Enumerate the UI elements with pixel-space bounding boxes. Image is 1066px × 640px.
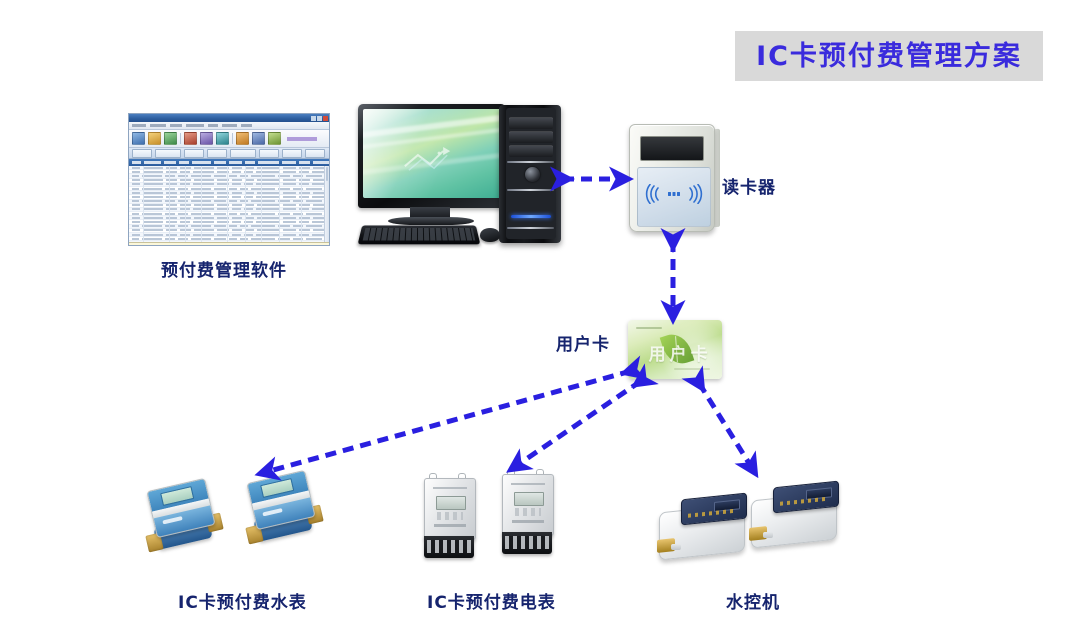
table-cell — [232, 234, 241, 236]
table-cell — [143, 229, 163, 231]
software-button — [259, 149, 279, 158]
table-cell — [256, 196, 280, 198]
table-cell — [214, 238, 226, 240]
connector-card-to-water-controller — [699, 383, 752, 468]
table-cell — [232, 192, 241, 194]
table-cell — [251, 200, 275, 202]
table-cell — [166, 192, 177, 194]
controller-indicator-row — [780, 497, 826, 506]
table-cell — [256, 234, 280, 236]
software-table-header — [129, 159, 329, 166]
table-cell — [214, 200, 226, 202]
table-cell — [178, 188, 188, 190]
table-cell — [283, 217, 296, 219]
table-cell — [143, 192, 163, 194]
table-cell — [193, 171, 213, 173]
table-cell — [132, 171, 140, 173]
table-cell — [166, 204, 177, 206]
table-cell — [142, 225, 162, 227]
table-cell — [251, 238, 275, 240]
table-cell — [132, 213, 139, 215]
table-cell — [214, 225, 226, 227]
table-cell — [229, 225, 237, 227]
table-cell — [306, 175, 322, 177]
table-cell — [165, 200, 175, 202]
table-cell — [256, 221, 280, 223]
table-cell — [132, 221, 140, 223]
table-cell — [165, 238, 175, 240]
software-data-grid — [129, 166, 329, 242]
table-cell — [214, 188, 226, 190]
rfid-wave-icon — [644, 184, 704, 204]
table-cell — [178, 238, 188, 240]
window-controls — [311, 116, 328, 121]
table-cell — [251, 225, 275, 227]
table-cell — [306, 213, 322, 215]
table-cell — [283, 221, 296, 223]
table-cell — [142, 175, 162, 177]
table-cell — [306, 238, 322, 240]
table-cell — [229, 188, 237, 190]
table-cell — [132, 204, 140, 206]
diagram-canvas: IC卡预付费管理方案 — [0, 0, 1066, 640]
table-cell — [166, 183, 177, 185]
table-cell — [229, 238, 237, 240]
table-cell — [132, 238, 139, 240]
wallpaper-arrow-graphic — [388, 143, 468, 173]
table-cell — [229, 213, 237, 215]
table-cell — [178, 175, 188, 177]
toolbar-caption — [287, 137, 317, 141]
table-cell — [306, 225, 322, 227]
table-cell — [194, 167, 214, 169]
software-button — [282, 149, 302, 158]
table-cell — [143, 221, 163, 223]
toolbar-icon — [216, 132, 229, 145]
tower-led-strip — [511, 215, 551, 218]
table-cell — [132, 192, 140, 194]
table-cell — [132, 234, 140, 236]
table-cell — [251, 213, 275, 215]
label-prepaid-electric-meter: IC卡预付费电表 — [427, 588, 556, 613]
info-panel-button[interactable] — [317, 245, 327, 246]
table-cell — [240, 200, 248, 202]
ic-user-card: 用户卡 — [628, 320, 722, 379]
table-cell — [232, 171, 241, 173]
prepaid-water-meter — [145, 478, 231, 564]
software-info-panel — [129, 242, 329, 246]
table-cell — [283, 179, 296, 181]
table-cell — [143, 183, 163, 185]
table-cell — [256, 171, 280, 173]
water-controller — [747, 480, 843, 554]
prepaid-electric-meter — [420, 476, 482, 564]
prepaid-electric-meter-group — [420, 472, 580, 572]
table-cell — [232, 196, 241, 198]
electric-meter-lcd — [514, 492, 544, 506]
toolbar-icon — [164, 132, 177, 145]
table-cell — [194, 217, 214, 219]
table-cell — [251, 188, 275, 190]
table-cell — [132, 196, 140, 198]
monitor-stand-base — [388, 217, 474, 225]
toolbar-icon — [184, 132, 197, 145]
table-cell — [283, 208, 296, 210]
table-cell — [132, 225, 139, 227]
table-cell — [193, 196, 213, 198]
table-cell — [166, 208, 177, 210]
table-cell — [143, 217, 163, 219]
software-button — [207, 149, 227, 158]
table-cell — [283, 183, 296, 185]
software-button — [155, 149, 181, 158]
table-cell — [143, 171, 163, 173]
label-water-controller: 水控机 — [726, 588, 780, 613]
controller-indicator-row — [688, 509, 734, 518]
table-cell — [214, 175, 226, 177]
table-cell — [132, 229, 140, 231]
table-cell — [132, 188, 139, 190]
table-cell — [142, 213, 162, 215]
table-cell — [166, 217, 177, 219]
toolbar-icon — [200, 132, 213, 145]
table-cell — [240, 188, 248, 190]
prepaid-water-meter-group — [145, 470, 345, 580]
table-cell — [232, 204, 241, 206]
table-cell — [132, 208, 140, 210]
reader-card-pad[interactable] — [637, 167, 711, 227]
table-cell — [240, 213, 248, 215]
table-cell — [229, 175, 237, 177]
table-cell — [143, 234, 163, 236]
table-cell — [232, 179, 241, 181]
table-cell — [232, 217, 241, 219]
software-button — [184, 149, 204, 158]
software-button — [230, 149, 256, 158]
computer-tower — [499, 105, 561, 243]
page-title: IC卡预付费管理方案 — [756, 43, 1022, 70]
table-cell — [143, 167, 163, 169]
mouse[interactable] — [480, 228, 500, 242]
table-cell — [194, 179, 214, 181]
electric-meter-buttons[interactable] — [437, 512, 463, 520]
software-menu-bar — [129, 122, 329, 130]
table-cell — [194, 204, 214, 206]
table-cell — [232, 221, 241, 223]
table-cell — [178, 225, 188, 227]
monitor-screen — [363, 109, 501, 198]
table-cell — [283, 204, 296, 206]
water-controller — [655, 492, 751, 566]
keyboard[interactable] — [358, 225, 481, 244]
table-cell — [232, 183, 241, 185]
table-cell — [132, 167, 140, 169]
table-cell — [283, 192, 296, 194]
table-cell — [283, 171, 296, 173]
table-cell — [193, 208, 213, 210]
terminal-block — [424, 536, 474, 558]
table-cell — [143, 204, 163, 206]
table-cell — [142, 188, 162, 190]
prepaid-management-software-screenshot — [128, 113, 330, 246]
table-cell — [283, 234, 296, 236]
table-cell — [283, 229, 296, 231]
desktop-computer — [358, 104, 573, 249]
table-cell — [194, 229, 214, 231]
power-button[interactable] — [525, 167, 540, 182]
water-controller-group — [655, 480, 845, 570]
table-cell — [142, 200, 162, 202]
software-button — [305, 149, 325, 158]
table-cell — [229, 200, 237, 202]
label-prepaid-management-software: 预付费管理软件 — [161, 256, 287, 281]
card-slot[interactable] — [262, 508, 282, 516]
table-cell — [132, 175, 139, 177]
toolbar-icon — [148, 132, 161, 145]
table-cell — [166, 179, 177, 181]
table-cell — [178, 200, 188, 202]
monitor — [358, 104, 506, 208]
card-artwork-text: 用户卡 — [649, 340, 712, 365]
table-cell — [193, 234, 213, 236]
label-card-reader: 读卡器 — [722, 173, 776, 198]
terminal-block — [502, 532, 552, 554]
table-cell — [166, 196, 177, 198]
connector-card-to-water-meter — [266, 371, 631, 472]
table-cell — [194, 192, 214, 194]
electric-meter-buttons[interactable] — [515, 508, 541, 516]
table-cell — [166, 167, 177, 169]
table-cell — [232, 229, 241, 231]
software-button-row — [129, 148, 329, 159]
label-user-card: 用户卡 — [556, 330, 610, 355]
toolbar-icon — [236, 132, 249, 145]
table-cell — [251, 175, 275, 177]
table-cell — [240, 175, 248, 177]
table-cell — [178, 213, 188, 215]
table-cell — [166, 221, 177, 223]
table-cell — [306, 188, 322, 190]
reader-lcd-screen — [640, 136, 704, 161]
title-band: IC卡预付费管理方案 — [735, 31, 1043, 81]
table-cell — [256, 208, 280, 210]
grid-scrollbar[interactable] — [324, 166, 329, 242]
ic-card-reader — [629, 124, 715, 232]
connector-card-to-electric-meter — [516, 381, 641, 466]
table-cell — [142, 238, 162, 240]
table-cell — [132, 217, 140, 219]
table-cell — [143, 196, 163, 198]
table-cell — [165, 175, 175, 177]
table-cell — [256, 183, 280, 185]
table-cell — [143, 179, 163, 181]
table-cell — [132, 179, 140, 181]
table-cell — [166, 229, 177, 231]
table-cell — [143, 208, 163, 210]
electric-meter-lcd — [436, 496, 466, 510]
card-slot[interactable] — [162, 516, 182, 524]
table-cell — [283, 167, 296, 169]
table-cell — [165, 213, 175, 215]
table-cell — [232, 167, 241, 169]
table-cell — [132, 183, 140, 185]
table-cell — [232, 208, 241, 210]
table-cell — [306, 200, 322, 202]
table-cell — [193, 221, 213, 223]
table-cell — [240, 225, 248, 227]
table-cell — [166, 171, 177, 173]
table-cell — [193, 183, 213, 185]
table-cell — [214, 213, 226, 215]
software-button — [132, 149, 152, 158]
table-cell — [283, 196, 296, 198]
label-prepaid-water-meter: IC卡预付费水表 — [178, 588, 307, 613]
toolbar-icon — [268, 132, 281, 145]
prepaid-electric-meter — [498, 472, 560, 560]
table-cell — [165, 225, 175, 227]
table-cell — [165, 188, 175, 190]
software-title-bar — [129, 114, 329, 122]
toolbar-icon — [252, 132, 265, 145]
prepaid-water-meter — [245, 470, 331, 556]
toolbar-icon — [132, 132, 145, 145]
table-cell — [166, 234, 177, 236]
table-cell — [240, 238, 248, 240]
software-toolbar — [129, 130, 329, 148]
table-cell — [132, 200, 139, 202]
